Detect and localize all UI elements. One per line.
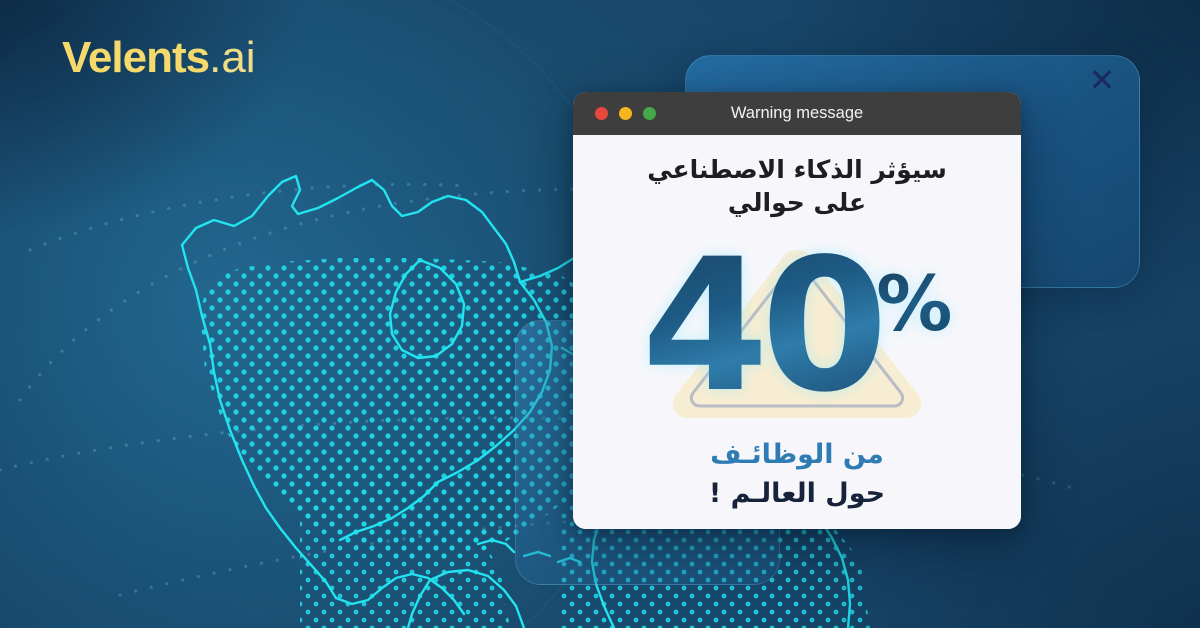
figure-percent-sign: % bbox=[876, 266, 952, 342]
dialog-body: سيؤثر الذكاء الاصطناعي على حوالي 40 % من… bbox=[573, 135, 1021, 529]
minimize-dot-icon[interactable] bbox=[619, 107, 632, 120]
close-icon[interactable]: ✕ bbox=[1085, 63, 1119, 97]
poster-canvas: ✕ Velents.ai Warning message سيؤثر الذكا… bbox=[0, 0, 1200, 628]
brand-name: Velents bbox=[62, 33, 209, 82]
dialog-titlebar: Warning message bbox=[573, 92, 1021, 135]
close-dot-icon[interactable] bbox=[595, 107, 608, 120]
maximize-dot-icon[interactable] bbox=[643, 107, 656, 120]
subtitle-blue: من الوظائـف bbox=[710, 438, 884, 472]
figure-number: 40 bbox=[642, 252, 881, 402]
subtitle-dark: حول العالـم ! bbox=[709, 477, 885, 511]
figure-value: 40 % bbox=[642, 252, 953, 402]
heading-line-2: على حوالي bbox=[728, 186, 866, 219]
heading-line-1: سيؤثر الذكاء الاصطناعي bbox=[647, 153, 947, 186]
brand-logo: Velents.ai bbox=[62, 36, 256, 80]
figure-block: 40 % bbox=[573, 222, 1021, 434]
window-controls bbox=[595, 107, 656, 120]
warning-dialog: Warning message سيؤثر الذكاء الاصطناعي ع… bbox=[573, 92, 1021, 529]
brand-suffix: .ai bbox=[209, 33, 255, 82]
